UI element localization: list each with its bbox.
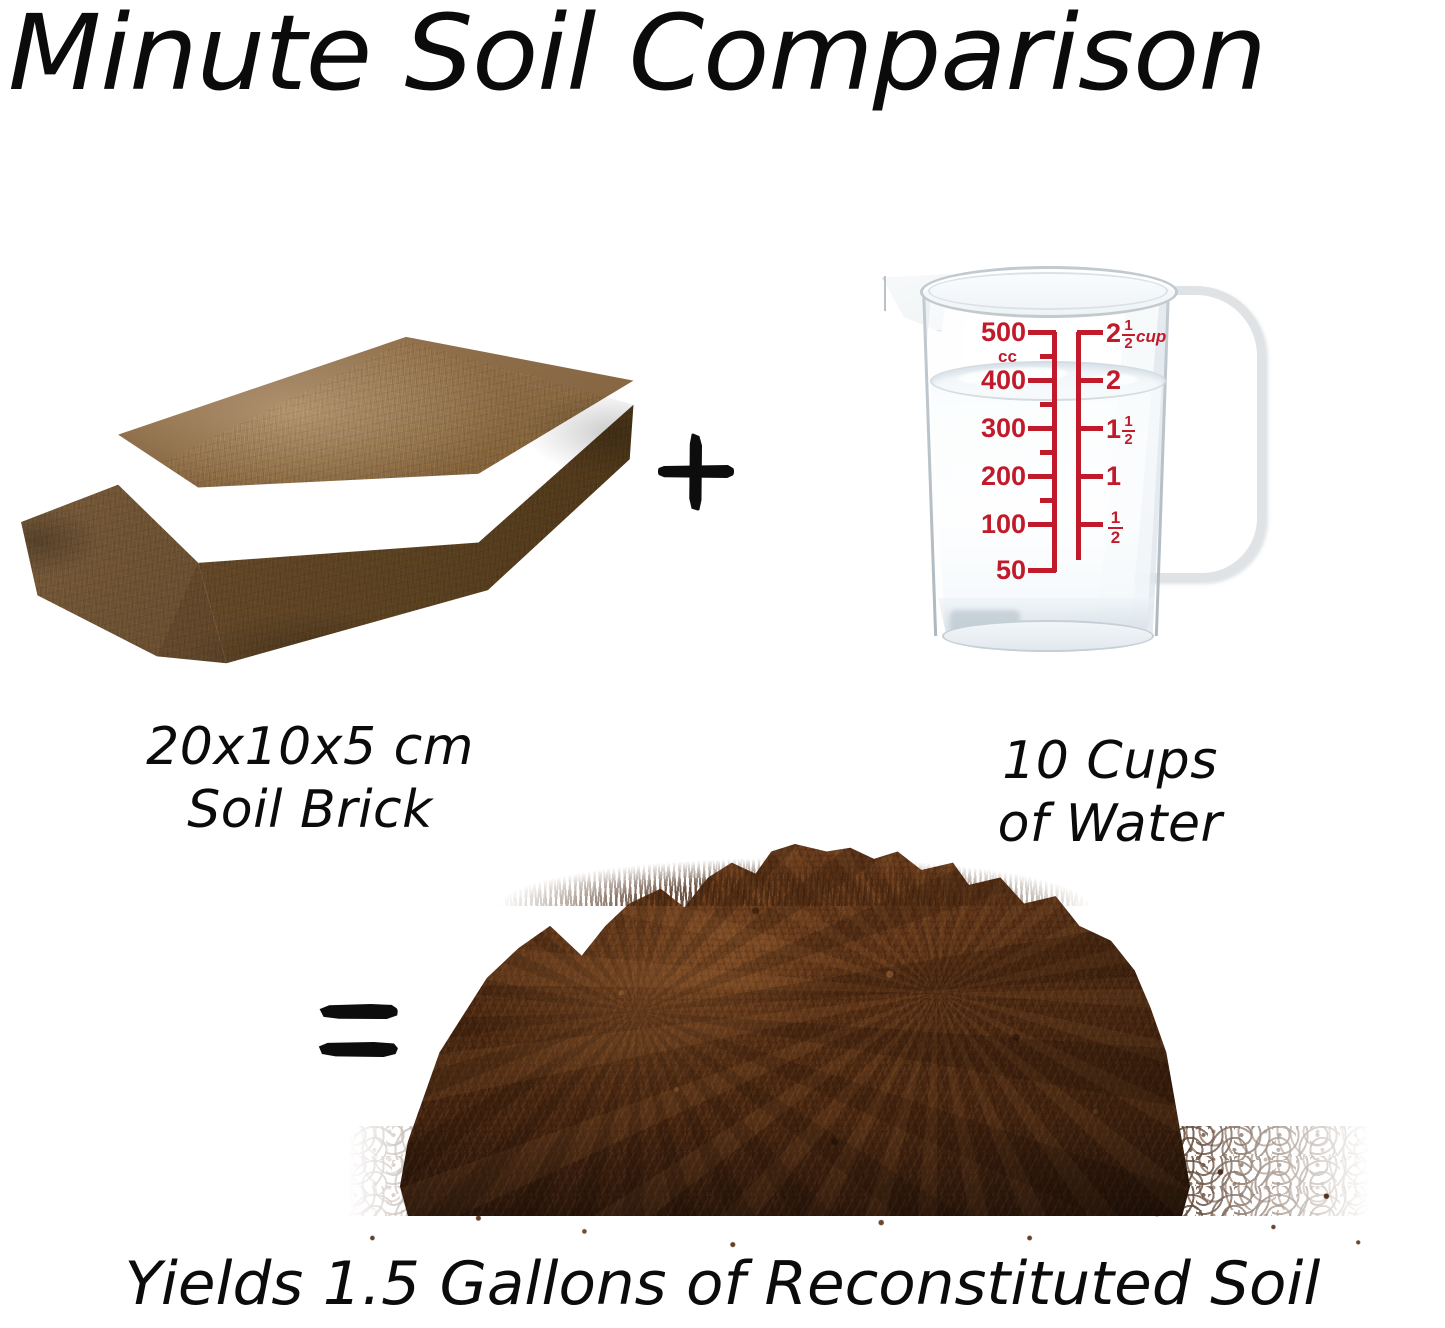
cup-rim-inner	[928, 272, 1168, 310]
page-title: Minute Soil Comparison	[8, 0, 1445, 114]
frac-denominator: 2	[1124, 433, 1132, 447]
cc-label-50: 50	[984, 557, 1026, 584]
cup-label-1half-fraction: 12	[1122, 415, 1135, 447]
frac-numerator: 1	[1111, 510, 1120, 526]
cup-label-2: 2	[1106, 367, 1121, 394]
cc-unit-label: cc	[998, 348, 1017, 365]
cup-label-2half-fraction: 12	[1122, 319, 1135, 351]
cc-tick-350	[1040, 402, 1056, 407]
soil-brick-icon	[6, 330, 636, 670]
plus-operator-icon	[656, 432, 736, 512]
frac-denominator: 2	[1111, 530, 1120, 546]
cup-label-1: 1	[1106, 463, 1121, 490]
cc-tick-400	[1028, 378, 1056, 383]
yield-caption: Yields 1.5 Gallons of Reconstituted Soil	[0, 1248, 1445, 1321]
cup-label-half: 12	[1107, 510, 1124, 545]
cc-label-100: 100	[968, 511, 1026, 538]
cc-tick-300	[1028, 426, 1056, 431]
cup-tick-1	[1077, 474, 1103, 479]
cc-tick-150	[1040, 498, 1056, 503]
measuring-cup-icon: 500 cc 400 300 200 100 50 212cup 2 112 1…	[880, 258, 1300, 646]
cc-label-500: 500	[968, 319, 1026, 346]
soil-mound-crest	[400, 836, 1190, 906]
cup-tick-2.5	[1077, 330, 1103, 335]
cup-tick-0.5	[1077, 522, 1103, 527]
soil-pile-icon	[330, 830, 1390, 1250]
brick-caption: 20x10x5 cm Soil Brick	[30, 716, 590, 843]
frac-numerator: 1	[1124, 319, 1132, 333]
frac-numerator: 1	[1124, 415, 1132, 429]
cup-label-1half-whole: 1	[1106, 414, 1121, 444]
cc-tick-250	[1040, 450, 1056, 455]
cup-tick-2	[1077, 378, 1103, 383]
cup-base-ellipse	[942, 620, 1154, 652]
cc-tick-500	[1028, 330, 1056, 335]
cup-label-half-fraction: 12	[1108, 510, 1123, 545]
cc-tick-200	[1028, 474, 1056, 479]
cup-label-2half-whole: 2	[1106, 318, 1121, 348]
cc-rail-lower	[1052, 522, 1057, 572]
cup-graduation-scale: 500 cc 400 300 200 100 50 212cup 2 112 1…	[976, 316, 1186, 616]
cc-label-200: 200	[968, 463, 1026, 490]
frac-denominator: 2	[1124, 337, 1132, 351]
cc-label-400: 400	[968, 367, 1026, 394]
cup-tick-1.5	[1077, 426, 1103, 431]
cc-label-300: 300	[968, 415, 1026, 442]
cup-label-1half: 112	[1106, 415, 1136, 447]
plus-vertical-stroke	[689, 433, 702, 511]
cup-unit-label: cup	[1136, 327, 1166, 346]
cup-label-2half: 212cup	[1106, 319, 1166, 351]
cc-tick-450	[1040, 354, 1056, 359]
